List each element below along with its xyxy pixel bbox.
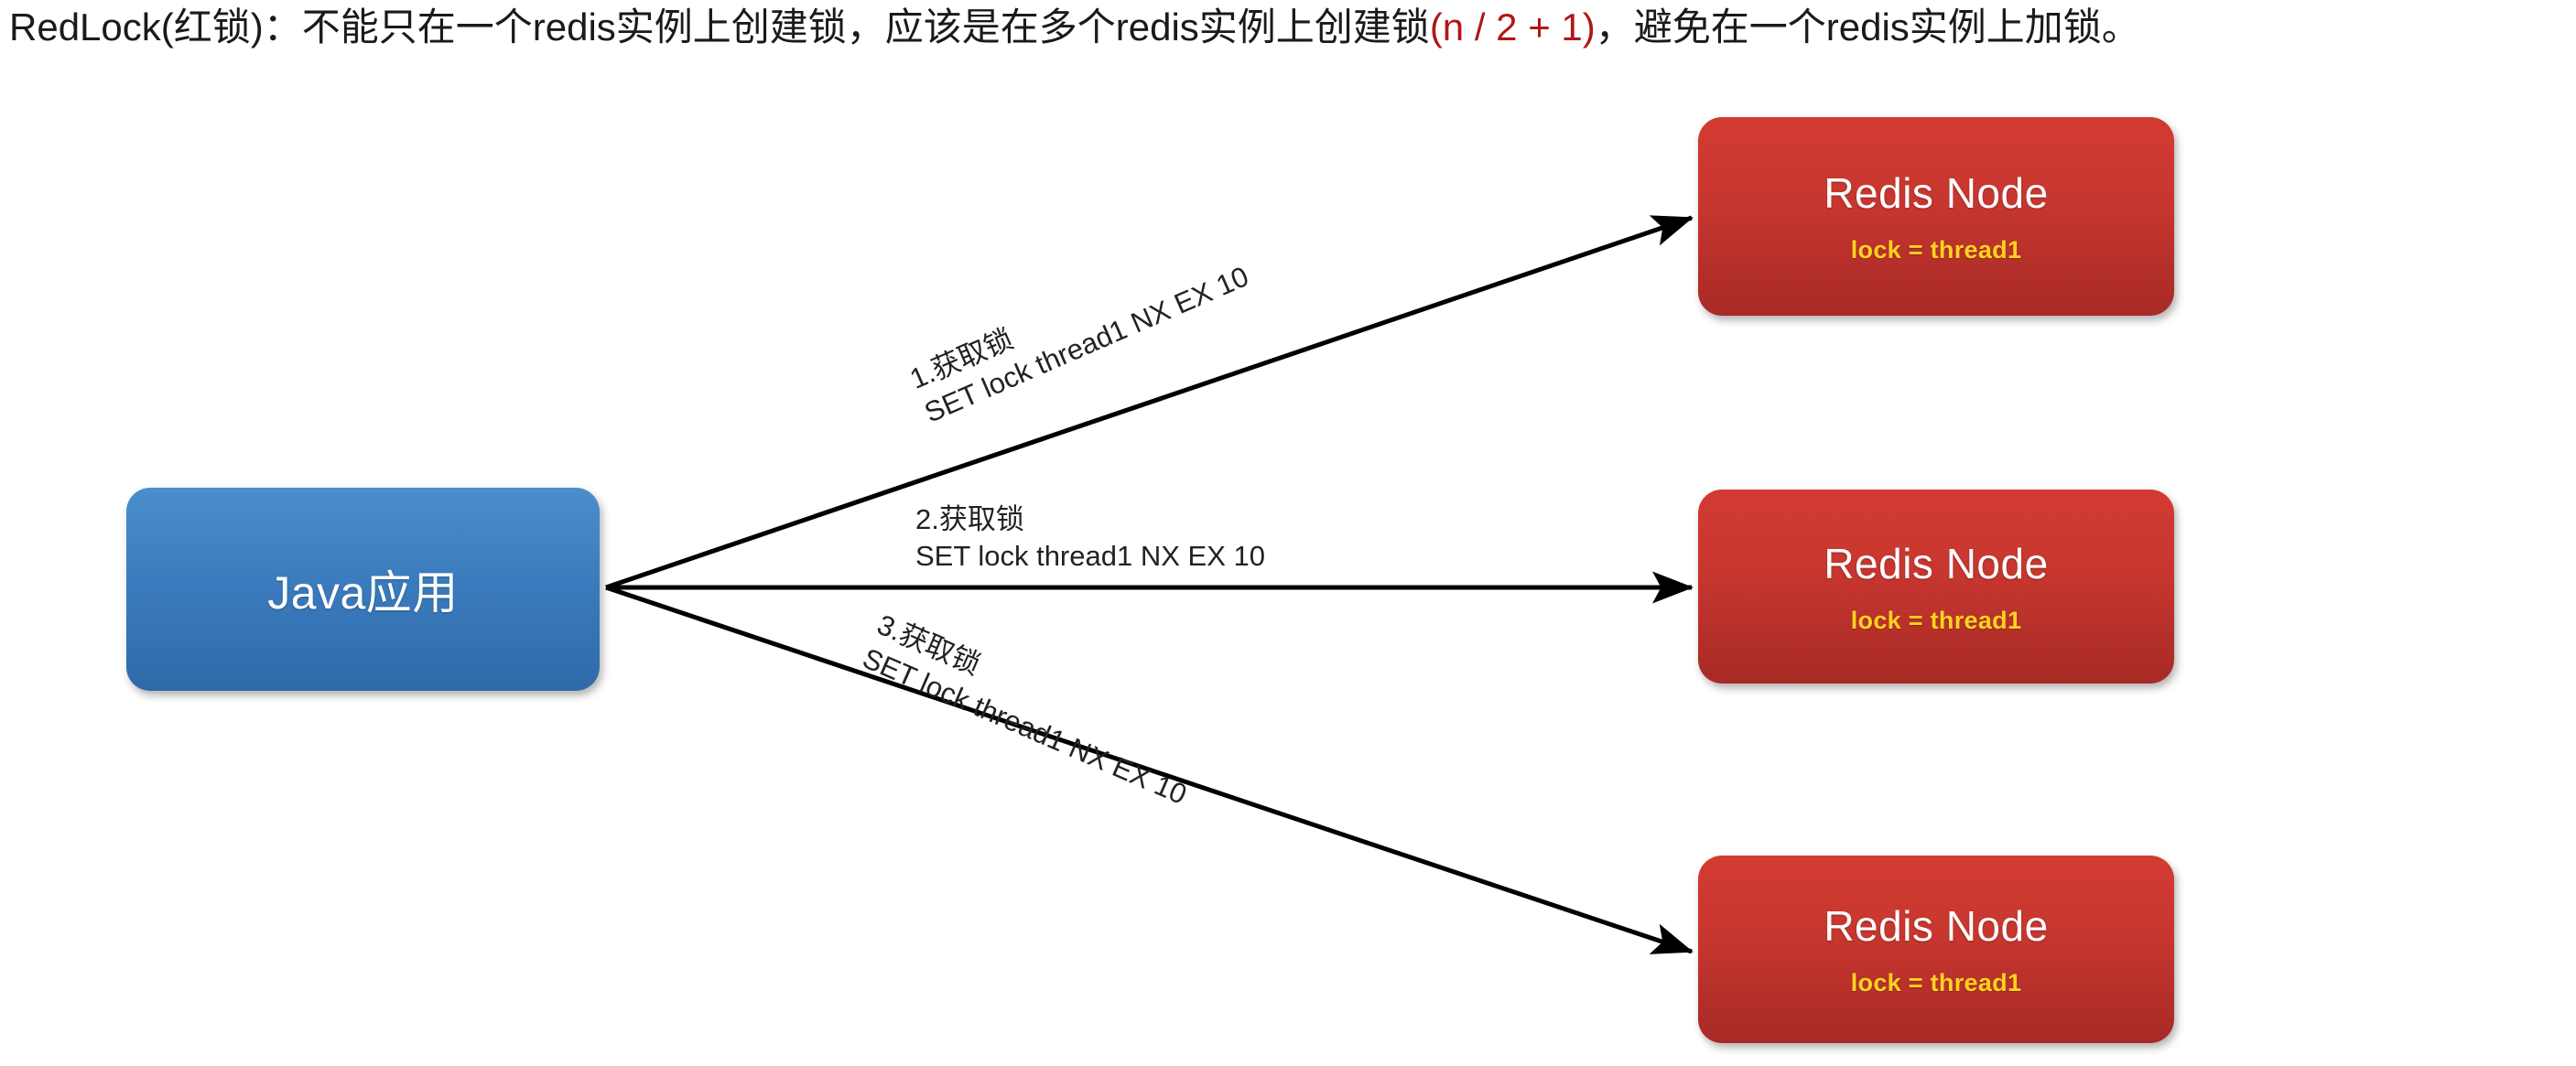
node-redis-2-lock-value: lock = thread1 [1851, 607, 2022, 635]
node-redis-3[interactable]: Redis Node lock = thread1 [1698, 856, 2174, 1043]
node-redis-2-title: Redis Node [1824, 539, 2048, 588]
node-redis-1[interactable]: Redis Node lock = thread1 [1698, 117, 2174, 316]
node-redis-2[interactable]: Redis Node lock = thread1 [1698, 490, 2174, 684]
node-redis-1-lock-value: lock = thread1 [1851, 236, 2022, 264]
edge-label-2-step: 2.获取锁 [915, 501, 1265, 538]
node-java-application-label: Java应用 [267, 556, 459, 622]
node-java-application[interactable]: Java应用 [126, 488, 600, 691]
node-redis-1-title: Redis Node [1824, 168, 2048, 218]
node-redis-3-title: Redis Node [1824, 901, 2048, 951]
edge-label-2-command: SET lock thread1 NX EX 10 [915, 538, 1265, 575]
edge-label-2: 2.获取锁 SET lock thread1 NX EX 10 [915, 501, 1265, 575]
node-redis-3-lock-value: lock = thread1 [1851, 969, 2022, 997]
